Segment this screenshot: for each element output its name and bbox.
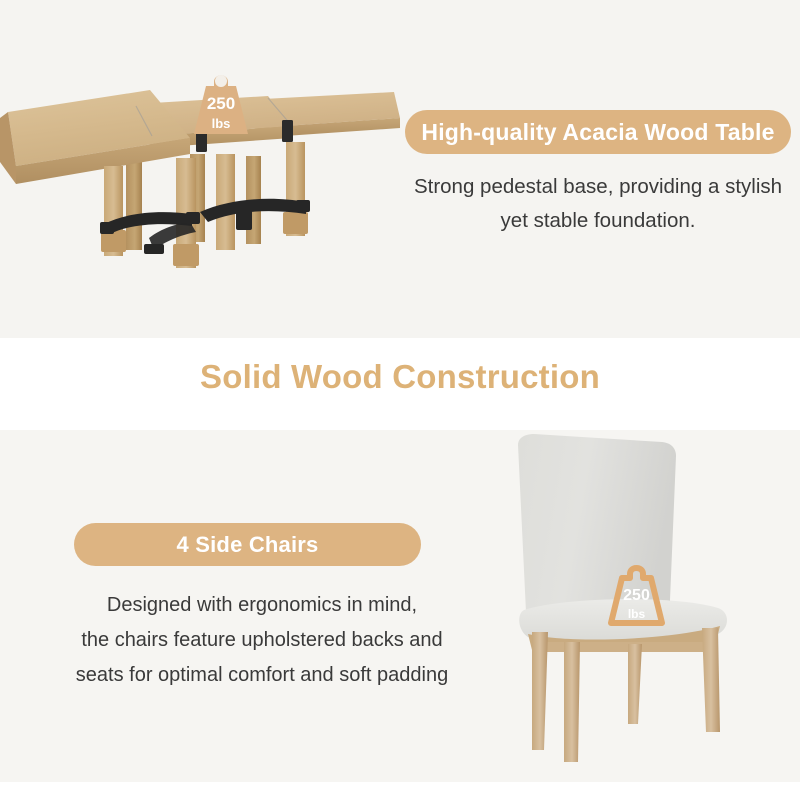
table-feature-badge: High-quality Acacia Wood Table xyxy=(405,110,791,154)
table-top-left-leaf xyxy=(0,90,190,184)
chair-weight-capacity-badge: 250 lbs xyxy=(608,558,666,626)
section-heading: Solid Wood Construction xyxy=(0,358,800,396)
table-feature-badge-label: High-quality Acacia Wood Table xyxy=(421,119,774,146)
chair-weight-unit: lbs xyxy=(628,607,646,621)
chairs-description-line-3: seats for optimal comfort and soft paddi… xyxy=(36,658,488,693)
chair-weight-value: 250 xyxy=(623,587,650,604)
product-feature-page: 250 lbs High-quality Acacia Wood Table S… xyxy=(0,0,800,800)
chairs-feature-description: Designed with ergonomics in mind, the ch… xyxy=(36,588,488,693)
table-weight-value: 250 xyxy=(207,94,235,113)
chairs-description-line-2: the chairs feature upholstered backs and xyxy=(36,623,488,658)
footer-background xyxy=(0,782,800,800)
table-description-line-1: Strong pedestal base, providing a stylis… xyxy=(396,170,800,204)
chairs-description-line-1: Designed with ergonomics in mind, xyxy=(36,588,488,623)
table-weight-capacity-badge: 250 lbs xyxy=(190,64,252,138)
chairs-feature-badge-label: 4 Side Chairs xyxy=(177,532,319,558)
table-description-line-2: yet stable foundation. xyxy=(396,204,800,238)
table-feature-description: Strong pedestal base, providing a stylis… xyxy=(396,170,800,238)
chairs-feature-badge: 4 Side Chairs xyxy=(74,523,421,566)
table-weight-unit: lbs xyxy=(212,116,231,131)
